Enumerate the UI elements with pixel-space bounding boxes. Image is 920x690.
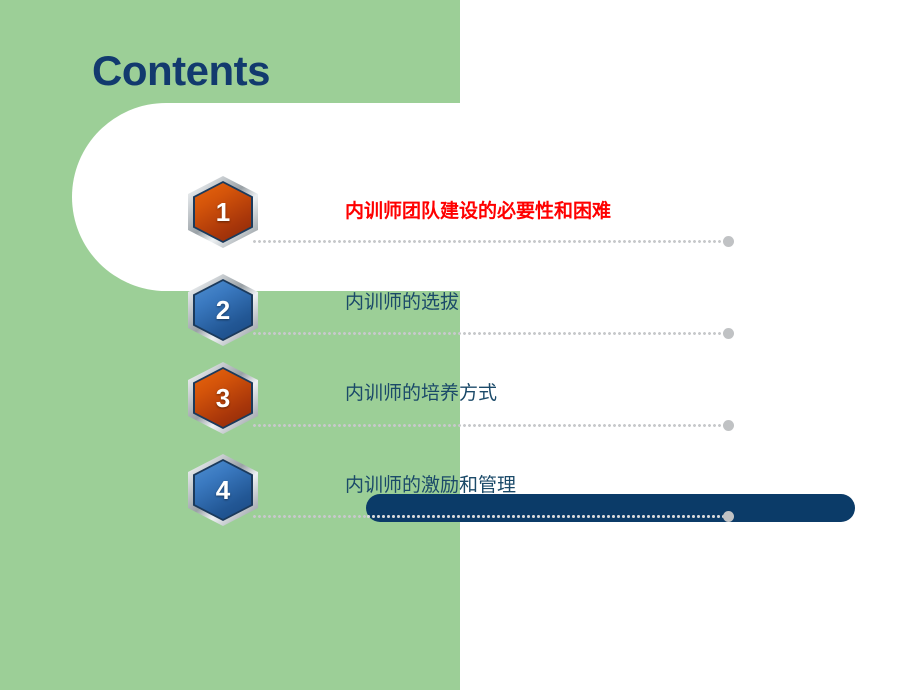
item-connector-3: [252, 424, 728, 427]
item-badge-3[interactable]: 3: [188, 362, 258, 434]
item-connector-4a: [252, 515, 366, 518]
page-title: Contents: [92, 50, 270, 92]
item-connector-dot-1: [723, 236, 734, 247]
item-badge-2[interactable]: 2: [188, 274, 258, 346]
item-connector-1: [252, 240, 728, 243]
item-label-4[interactable]: 内训师的激励和管理: [345, 470, 516, 497]
item-number-2: 2: [188, 274, 258, 346]
slide-canvas: Contents 1 内训师团队建设的必要性和困难 2 内训师的选拔 3 内训师…: [0, 0, 920, 690]
item-connector-4b: [366, 515, 728, 518]
item-number-4: 4: [188, 454, 258, 526]
item-badge-1[interactable]: 1: [188, 176, 258, 248]
item-label-1[interactable]: 内训师团队建设的必要性和困难: [345, 196, 611, 223]
item-badge-4[interactable]: 4: [188, 454, 258, 526]
item-number-1: 1: [188, 176, 258, 248]
item-label-3[interactable]: 内训师的培养方式: [345, 378, 497, 405]
item-label-2[interactable]: 内训师的选拔: [345, 287, 459, 314]
item-connector-dot-3: [723, 420, 734, 431]
item-number-3: 3: [188, 362, 258, 434]
item-connector-2: [252, 332, 728, 335]
item-connector-dot-4: [723, 511, 734, 522]
item-connector-dot-2: [723, 328, 734, 339]
